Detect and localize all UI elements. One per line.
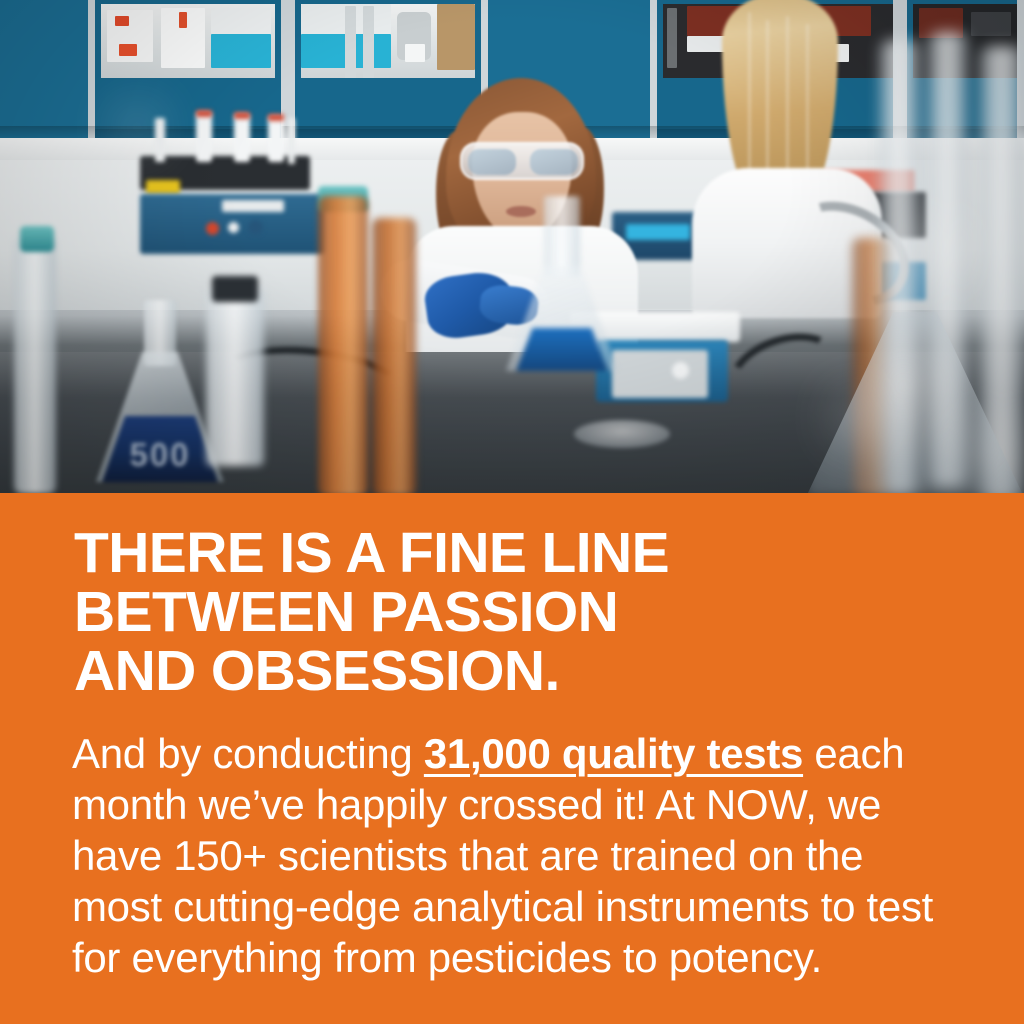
cabinet-glass-1 [101, 4, 275, 78]
promo-card: 500 THERE IS A FINE LINE BETWEEN PASSION… [0, 0, 1024, 1024]
clear-bottle-left [14, 236, 56, 493]
body-before-highlight: And by conducting [72, 730, 424, 777]
cabinet-door-1 [88, 0, 288, 138]
shelf-probe [288, 118, 295, 164]
bokeh-highlight-3 [840, 400, 880, 434]
instrument-panel [612, 350, 708, 398]
shelf-tube-2-cap [196, 110, 212, 117]
shelf-tube-2 [196, 112, 212, 162]
headline: THERE IS A FINE LINE BETWEEN PASSION AND… [74, 524, 974, 701]
bokeh-highlight-1 [916, 228, 960, 272]
stat-highlight-quality-tests: 31,000 quality tests [424, 730, 803, 777]
body-copy: And by conducting 31,000 quality tests e… [72, 728, 958, 983]
goggle-lens-left [468, 149, 516, 175]
laboratory-photo: 500 [0, 0, 1024, 493]
analyzer-knob-red [206, 222, 219, 235]
amber-cylinder-mid [372, 218, 416, 493]
amber-cylinder-left [318, 196, 368, 493]
shelf-tube-3-cap [234, 112, 250, 119]
white-bottle-cap [212, 276, 258, 302]
analyzer-knob-white [228, 222, 239, 233]
erlenmeyer-flask-center [506, 196, 618, 371]
cabinet-glass-2 [301, 4, 475, 78]
cylinder-cap-teal-1 [20, 226, 54, 252]
bokeh-highlight-4 [120, 110, 154, 144]
goggle-lens-right [530, 149, 578, 175]
flask-neck [544, 196, 580, 276]
orange-text-panel: THERE IS A FINE LINE BETWEEN PASSION AND… [0, 493, 1024, 1024]
analyzer-display [222, 200, 284, 212]
rack-yellow-tag [146, 180, 180, 194]
shelf-tube-1 [155, 118, 165, 162]
shelf-tube-3 [234, 114, 250, 162]
shelf-tube-4-cap [268, 114, 284, 121]
flask-500-label: 500 [118, 436, 202, 474]
bokeh-highlight-2 [962, 430, 1018, 476]
instrument-knob [672, 362, 689, 379]
volumetric-flask-500: 500 [96, 300, 224, 482]
shelf-tube-4 [268, 116, 284, 162]
white-bottle-mid [206, 288, 264, 466]
watch-glass-dish [574, 420, 670, 448]
analyzer-knob-dark [248, 220, 263, 235]
safety-goggles-icon [460, 142, 584, 180]
